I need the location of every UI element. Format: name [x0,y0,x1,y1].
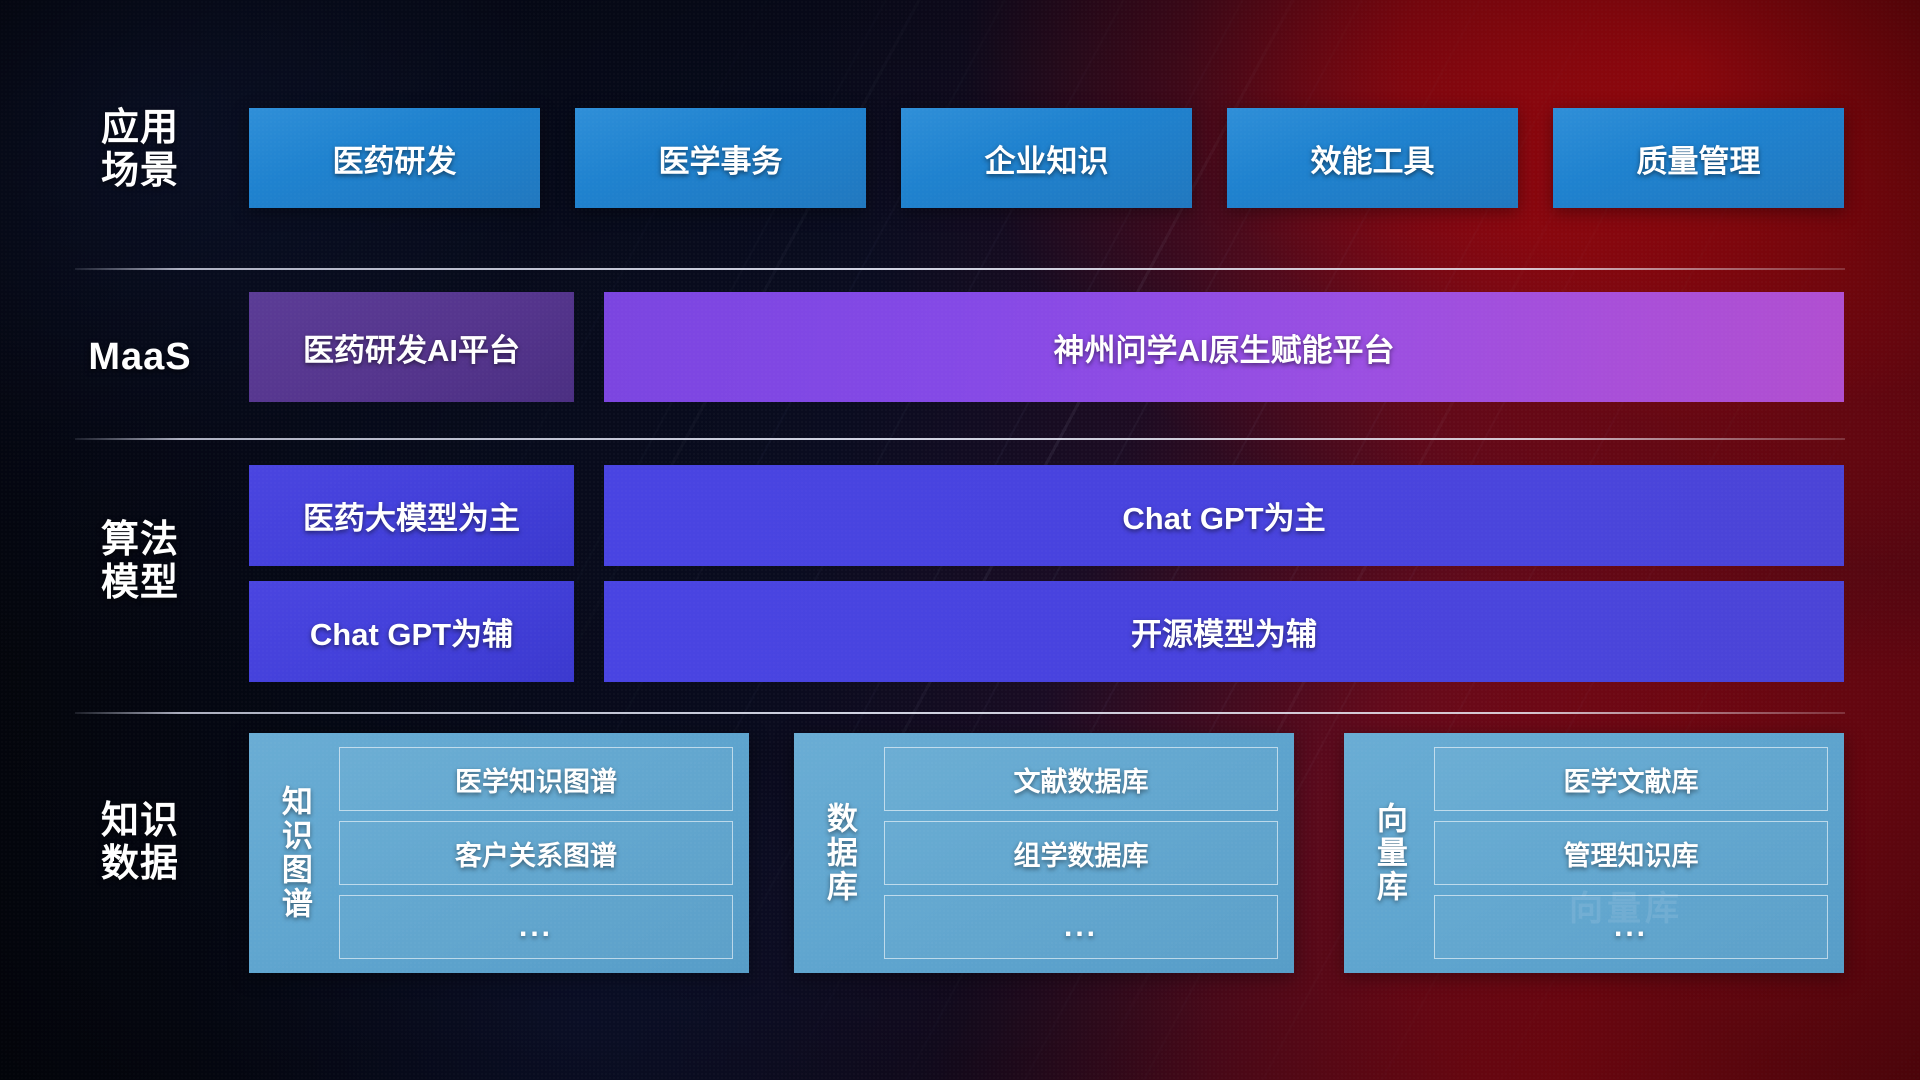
algo-box-chatgpt-secondary[interactable]: Chat GPT为辅 [249,581,574,682]
algo-box-chatgpt-primary-label: Chat GPT为主 [1122,493,1325,538]
app-box-quality-management-label: 质量管理 [1637,136,1761,181]
knowledge-item-literature-database[interactable]: 文献数据库 [884,747,1278,811]
app-box-medical-rd-label: 医药研发 [333,136,457,181]
app-box-medical-rd[interactable]: 医药研发 [249,108,540,208]
knowledge-item-customer-relation-graph[interactable]: 客户关系图谱 [339,821,733,885]
app-box-enterprise-knowledge-label: 企业知识 [985,136,1109,181]
divider-2 [75,438,1845,440]
knowledge-group-knowledge-graph[interactable]: 知识图谱 医学知识图谱 客户关系图谱 ... [249,733,749,973]
algo-box-chatgpt-primary[interactable]: Chat GPT为主 [604,465,1844,566]
knowledge-item-more-graph[interactable]: ... [339,895,733,959]
divider-3 [75,712,1845,714]
knowledge-group-knowledge-graph-label: 知识图谱 [263,747,325,959]
algo-box-chatgpt-secondary-label: Chat GPT为辅 [310,609,513,654]
maas-box-medical-rd-ai-platform-label: 医药研发AI平台 [303,325,520,370]
algo-box-opensource-secondary[interactable]: 开源模型为辅 [604,581,1844,682]
app-box-enterprise-knowledge[interactable]: 企业知识 [901,108,1192,208]
knowledge-item-management-knowledge-store[interactable]: 管理知识库 [1434,821,1828,885]
knowledge-group-vector-store[interactable]: 向量库 医学文献库 管理知识库 ... 向量库 [1344,733,1844,973]
knowledge-group-vector-store-label: 向量库 [1358,747,1420,959]
app-box-medical-affairs-label: 医学事务 [659,136,783,181]
row-label-application-scenario: 应用 场景 [75,107,205,194]
maas-box-shenzhou-wenxue-platform[interactable]: 神州问学AI原生赋能平台 [604,292,1844,402]
knowledge-group-database[interactable]: 数据库 文献数据库 组学数据库 ... [794,733,1294,973]
app-box-efficiency-tools-label: 效能工具 [1311,136,1435,181]
architecture-diagram: 应用 场景 医药研发 医学事务 企业知识 效能工具 质量管理 MaaS 医药研发… [0,0,1920,1080]
row-label-knowledge-data: 知识 数据 [75,800,205,887]
knowledge-item-more-database[interactable]: ... [884,895,1278,959]
knowledge-item-medical-knowledge-graph[interactable]: 医学知识图谱 [339,747,733,811]
app-box-medical-affairs[interactable]: 医学事务 [575,108,866,208]
app-box-efficiency-tools[interactable]: 效能工具 [1227,108,1518,208]
divider-1 [75,268,1845,270]
row-label-algorithm-model: 算法 模型 [75,519,205,606]
knowledge-item-more-vector[interactable]: ... [1434,895,1828,959]
app-box-quality-management[interactable]: 质量管理 [1553,108,1844,208]
knowledge-item-omics-database[interactable]: 组学数据库 [884,821,1278,885]
algo-box-medical-llm-primary[interactable]: 医药大模型为主 [249,465,574,566]
knowledge-item-medical-literature-store[interactable]: 医学文献库 [1434,747,1828,811]
maas-box-shenzhou-wenxue-platform-label: 神州问学AI原生赋能平台 [1054,325,1395,370]
algo-box-medical-llm-primary-label: 医药大模型为主 [303,493,520,538]
maas-box-medical-rd-ai-platform[interactable]: 医药研发AI平台 [249,292,574,402]
algo-box-opensource-secondary-label: 开源模型为辅 [1131,609,1317,654]
knowledge-group-database-label: 数据库 [808,747,870,959]
row-label-maas: MaaS [75,336,205,379]
